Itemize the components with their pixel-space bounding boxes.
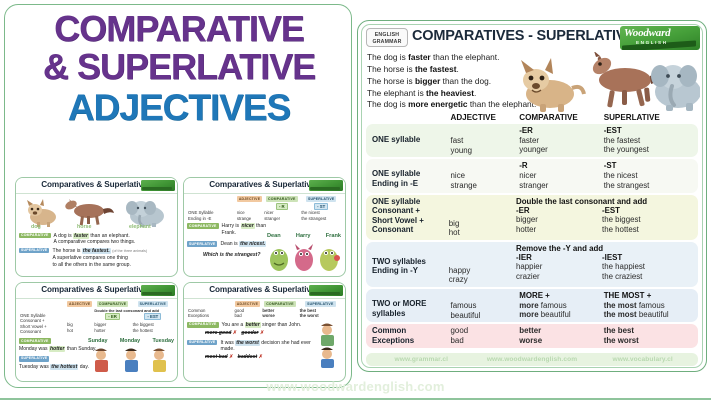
thumb4-header-row: ADJECTIVE COMPARATIVE SUPERLATIVE	[187, 301, 342, 308]
logo-subtitle: ENGLISH	[636, 40, 668, 45]
sup-2: the worst	[299, 313, 342, 319]
row-superlative-2: the strangest	[604, 181, 698, 191]
title-line-3: ADJECTIVES	[5, 89, 352, 126]
comp-highlight: better	[245, 322, 261, 328]
row-superlative-2: the worst	[604, 336, 698, 346]
thumb1-comparative-row: COMPARATIVE A dog is faster than an elep…	[19, 233, 174, 247]
row-superlative-1: the best	[604, 326, 698, 336]
main-chart-panel: ENGLISH GRAMMAR COMPARATIVES - SUPERLATI…	[357, 20, 707, 372]
comparative-tag: COMPARATIVE	[19, 233, 51, 239]
thumb1-animals: dog horse elephant	[19, 197, 174, 231]
intro-pre: The dog is	[367, 52, 408, 62]
table-row: ONE syllable Consonant + Short Vowel + C…	[366, 195, 698, 240]
table-column-headers: ADJECTIVE COMPARATIVE SUPERLATIVE	[366, 113, 698, 124]
intro-post: .	[456, 64, 458, 74]
row-superlative-rule: -ST	[604, 161, 698, 171]
thumb3-header: Comparatives & Superlatives	[16, 283, 177, 299]
intro-post: .	[474, 88, 476, 98]
row-category: Common Exceptions	[366, 326, 451, 345]
sup-wrong-1: most bad	[205, 354, 228, 360]
hdr-superlative-tag: SUPERLATIVE	[138, 301, 168, 307]
day-sunday: Sunday	[88, 338, 107, 345]
day-tuesday: Tuesday	[153, 338, 174, 345]
adj-2: hot	[66, 328, 93, 335]
thumb3-rule-row: ONE Syllable Consonant + Short Vowel + C…	[19, 313, 174, 322]
sup-1: the biggest	[132, 322, 174, 329]
comp-prefix: more	[519, 310, 538, 319]
row-comparative-1: nicer	[519, 171, 603, 181]
rule-comparative: - R	[276, 203, 288, 211]
row-superlative-2: the craziest	[602, 272, 698, 282]
comparative-tag: COMPARATIVE	[187, 223, 219, 229]
day-monday: Monday	[120, 338, 140, 345]
comp-pre: Harry is	[222, 223, 241, 229]
table-row: ONE syllable fastyoung -ERfasteryounger …	[366, 124, 698, 157]
row-comparative-2: younger	[519, 145, 603, 155]
row-comparative-1: faster	[519, 136, 603, 146]
row-superlative-rule: -IEST	[602, 253, 698, 263]
row-adjective-1: good	[451, 326, 520, 336]
table-row: Common Exceptions goodbad betterworse th…	[366, 324, 698, 347]
thumb1-superlative-text: The horse is the fastest. (of the three …	[52, 248, 174, 269]
comp-highlight: faster	[73, 233, 89, 239]
row-superlative-2: the hottest	[602, 225, 698, 235]
sup-pre: The horse is	[52, 248, 81, 254]
comp-pre: Monday was	[19, 346, 49, 352]
hdr-superlative-tag: SUPERLATIVE	[305, 301, 335, 307]
logo-name: Woodward	[624, 27, 670, 39]
row-superlative-2: the youngest	[604, 145, 698, 155]
thumb1-header: Comparatives & Superlatives	[16, 178, 177, 194]
row-wide-rule: Remove the -Y and add	[516, 244, 698, 253]
col-header-superlative: SUPERLATIVE	[604, 113, 698, 122]
row-category: ONE syllable Ending in -E	[366, 161, 451, 190]
thumb4-category: Common Exceptions	[187, 308, 234, 319]
thumb2-table: ADJECTIVE COMPARATIVE SUPERLATIVE - R - …	[187, 196, 342, 221]
adj-1: big	[66, 322, 93, 329]
row-superlative-rule: -EST	[602, 206, 698, 216]
table-row: ONE syllable Ending in -E nicestrange -R…	[366, 159, 698, 192]
row-comparative-2: more beautiful	[519, 310, 603, 320]
thumb2-comparative-row: COMPARATIVE Harry is nicer than Frank.	[187, 223, 275, 237]
hdr-comparative-tag: COMPARATIVE	[266, 196, 298, 202]
intro-pre: The dog is	[367, 99, 408, 109]
comp-highlight: nicer	[241, 223, 255, 229]
comp-2: worse	[261, 313, 298, 319]
sup-pre: Tuesday was	[19, 364, 50, 370]
thumb2-body: ADJECTIVE COMPARATIVE SUPERLATIVE - R - …	[184, 194, 345, 261]
thumb2-question: Which is the strangest?	[187, 252, 275, 259]
poster-canvas: COMPARATIVE & SUPERLATIVE ADJECTIVES Com…	[0, 0, 711, 400]
intro-bold: more energetic	[408, 99, 467, 109]
hdr-comparative-tag: COMPARATIVE	[97, 301, 129, 307]
rule-superlative: - ST	[314, 203, 328, 211]
comp-note: A comparative compares two things.	[54, 239, 136, 245]
row-comparative-rule: -ER	[519, 126, 603, 136]
animal-label-dog: dog	[31, 224, 41, 231]
row-adjective-1: nice	[451, 171, 520, 181]
row-superlative-1: the nicest	[604, 171, 698, 181]
row-adjective-2: strange	[451, 181, 520, 191]
sup-base: beautiful	[639, 310, 669, 319]
sup-note-1: A superlative compares one thing	[52, 255, 127, 261]
thumb2-rule-row: - R - ST	[187, 203, 342, 211]
wrong-mark-icon: ✗	[259, 354, 263, 360]
thumbnail-card-3[interactable]: Comparatives & Superlatives ADJECTIVE CO…	[15, 282, 178, 382]
intro-bold: bigger	[415, 76, 440, 86]
thumb3-table: ADJECTIVE COMPARATIVE SUPERLATIVE Double…	[19, 301, 174, 335]
row-comparative-rule: -R	[519, 161, 603, 171]
sup-base: famous	[639, 301, 665, 310]
wrong-mark-icon: ✗	[260, 330, 264, 336]
sup-pre: It was	[220, 340, 235, 346]
thumb3-days: Sunday Monday Tuesday	[88, 338, 174, 345]
row-wide-rule: Double the last consonant and add	[516, 197, 698, 206]
row-adjective-1: fast	[451, 136, 520, 146]
comp-pre: You are a	[222, 322, 245, 328]
animals-illustration-icon	[510, 52, 700, 112]
footer-link-vocabulary[interactable]: www.vocabulary.cl	[587, 356, 698, 363]
row-comparative-1: more famous	[519, 301, 603, 311]
hdr-comparative-tag: COMPARATIVE	[264, 301, 296, 307]
superlative-tag: SUPERLATIVE	[187, 340, 217, 346]
woodward-logo-icon	[309, 180, 343, 191]
thumb4-superlative-row: SUPERLATIVE It was the worst decision sh…	[187, 340, 315, 354]
hdr-superlative-tag: SUPERLATIVE	[306, 196, 336, 202]
comp-prefix: more	[519, 301, 538, 310]
hdr-adjective-tag: ADJECTIVE	[67, 301, 92, 307]
thumb4-superlative-wrong: most bad ✗ baddest ✗	[187, 354, 315, 361]
row-comparative-2: crazier	[516, 272, 602, 282]
thumb3-body: ADJECTIVE COMPARATIVE SUPERLATIVE Double…	[16, 299, 177, 373]
intro-pre: The horse is	[367, 76, 415, 86]
intro-bold: the heaviest	[426, 88, 474, 98]
row-comparative-1: better	[519, 326, 603, 336]
comp-2: hotter	[93, 328, 131, 335]
row-superlative-rule: THE MOST +	[604, 291, 698, 301]
thumb4-comparative-row: COMPARATIVE You are a better singer than…	[187, 322, 315, 329]
adj-2: strange	[236, 216, 263, 222]
thumb1-comparative-text: A dog is faster than an elephant. A comp…	[54, 233, 174, 247]
table-row: TWO or MORE syllables famousbeautiful MO…	[366, 289, 698, 322]
woodward-logo-icon	[141, 180, 175, 191]
row-superlative-1: the biggest	[602, 215, 698, 225]
rule-superlative: - EST	[144, 313, 161, 321]
thumb1-body: dog horse elephant COMPARATIVE A dog is …	[16, 194, 177, 270]
adj-2: bad	[234, 313, 262, 319]
row-superlative-1: the fastest	[604, 136, 698, 146]
row-superlative-1: the most famous	[604, 301, 698, 311]
thumb3-header-row: ADJECTIVE COMPARATIVE SUPERLATIVE	[19, 301, 174, 308]
comp-2: stranger	[263, 216, 300, 222]
english-grammar-badge: ENGLISH GRAMMAR	[366, 28, 408, 47]
page-title: COMPARATIVES - SUPERLATIVES	[412, 28, 644, 44]
hdr-adjective-tag: ADJECTIVE	[237, 196, 262, 202]
sup-wrong-2: baddest	[238, 354, 258, 360]
thumbnail-grid: Comparatives & Superlatives	[13, 175, 347, 385]
animal-label-elephant: elephant	[129, 224, 151, 231]
row-category: TWO or MORE syllables	[366, 291, 451, 320]
intro-bold: faster	[408, 52, 431, 62]
main-header: ENGLISH GRAMMAR COMPARATIVES - SUPERLATI…	[362, 25, 702, 51]
thumbnail-card-1[interactable]: Comparatives & Superlatives	[15, 177, 178, 277]
row-superlative-1: the happiest	[602, 262, 698, 272]
bottom-watermark: www.woodwardenglish.com	[0, 379, 711, 394]
poster-title: COMPARATIVE & SUPERLATIVE ADJECTIVES	[5, 11, 352, 126]
intro-sentences: The dog is faster than the elephant. The…	[362, 51, 702, 112]
singers-illustration-icon	[312, 322, 342, 368]
sup-note-2: to all the others in the same group.	[52, 262, 130, 268]
comp-wrong-2: gooder	[241, 330, 258, 336]
animal-label-horse: horse	[77, 224, 91, 231]
thumbnail-card-4[interactable]: Comparatives & Superlatives ADJECTIVE CO…	[183, 282, 346, 382]
thumb1-superlative-row: SUPERLATIVE The horse is the fastest. (o…	[19, 248, 174, 269]
sup-pre: Dean is	[220, 241, 239, 247]
row-comparative-1: happier	[516, 262, 602, 272]
sup-2: the hottest	[132, 328, 174, 335]
title-line-2: & SUPERLATIVE	[5, 49, 352, 85]
woodward-english-logo: Woodward ENGLISH	[620, 26, 700, 50]
comp-base: famous	[541, 301, 567, 310]
sup-highlight: the nicest.	[239, 241, 266, 247]
comparatives-table: ADJECTIVE COMPARATIVE SUPERLATIVE ONE sy…	[362, 113, 702, 351]
comp-highlight: hotter	[49, 346, 65, 352]
left-title-panel: COMPARATIVE & SUPERLATIVE ADJECTIVES Com…	[4, 4, 352, 388]
thumb3-category: ONE Syllable Consonant + Short Vowel + C…	[19, 313, 66, 335]
wrong-mark-icon: ✗	[229, 354, 233, 360]
comparative-tag: COMPARATIVE	[187, 322, 219, 328]
intro-bold: the fastest	[415, 64, 457, 74]
row-comparative-2: stranger	[519, 181, 603, 191]
main-animals-illustration	[510, 52, 700, 112]
comp-pre: A dog is	[54, 233, 74, 239]
row-category: ONE syllable Consonant + Short Vowel + C…	[366, 197, 449, 238]
thumb2-header: Comparatives & Superlatives	[184, 178, 345, 194]
footer-link-grammar[interactable]: www.grammar.cl	[366, 356, 477, 363]
comp-wrong-1: more good	[205, 330, 231, 336]
table-row: ONE Syllable Ending in -E nice nicer the…	[187, 210, 342, 216]
thumbnail-card-2[interactable]: Comparatives & Superlatives ADJECTIVE CO…	[183, 177, 346, 277]
row-adjective-1: big	[449, 219, 516, 229]
superlative-tag: SUPERLATIVE	[19, 356, 49, 362]
row-comparative-rule: -ER	[516, 206, 602, 216]
woodward-logo-icon	[309, 285, 343, 296]
intro-pre: The elephant is	[367, 88, 426, 98]
row-adjective-2: beautiful	[451, 311, 520, 321]
comp-post: singer than John.	[261, 322, 302, 328]
row-adjective-2: hot	[449, 228, 516, 238]
thumb4-comparative-wrong: more good ✗ gooder ✗	[187, 330, 315, 337]
wrong-mark-icon: ✗	[233, 330, 237, 336]
hdr-adjective-tag: ADJECTIVE	[235, 301, 260, 307]
row-comparative-2: worse	[519, 336, 603, 346]
sup-2: the strangest	[300, 216, 342, 222]
sup-highlight: the fastest.	[82, 248, 111, 254]
monsters-illustration-icon	[267, 240, 341, 272]
row-adjective-2: crazy	[449, 275, 516, 285]
row-comparative-1: bigger	[516, 215, 602, 225]
comp-base: beautiful	[541, 310, 571, 319]
main-panel-inner: ENGLISH GRAMMAR COMPARATIVES - SUPERLATI…	[361, 24, 703, 368]
thumb4-comparative-text: You are a better singer than John.	[222, 322, 315, 329]
thumb2-category: ONE Syllable Ending in -E	[187, 210, 236, 221]
title-line-1: COMPARATIVE	[5, 11, 352, 47]
row-comparative-rule: -IER	[516, 253, 602, 263]
sup-highlight: the worst	[235, 340, 260, 346]
row-comparative-rule: MORE +	[519, 291, 603, 301]
footer-links: www.grammar.cl www.woodwardenglish.com w…	[366, 353, 698, 366]
people-illustration-icon	[88, 346, 174, 374]
thumb4-body: ADJECTIVE COMPARATIVE SUPERLATIVE Common…	[184, 299, 345, 363]
comparative-tag: COMPARATIVE	[19, 338, 51, 344]
superlative-tag: SUPERLATIVE	[187, 241, 217, 247]
row-comparative-2: hotter	[516, 225, 602, 235]
badge-line-2: GRAMMAR	[367, 39, 407, 46]
sup-aside: (of the three animals)	[112, 249, 147, 253]
row-superlative-rule: -EST	[604, 126, 698, 136]
footer-link-woodwardenglish[interactable]: www.woodwardenglish.com	[477, 356, 588, 363]
thumb2-header-row: ADJECTIVE COMPARATIVE SUPERLATIVE	[187, 196, 342, 203]
col-header-blank	[366, 113, 450, 122]
animals-illustration-icon	[19, 197, 174, 227]
thumb4-table: ADJECTIVE COMPARATIVE SUPERLATIVE Common…	[187, 301, 342, 319]
table-row: TWO syllables Ending in -Y happycrazy Re…	[366, 242, 698, 287]
row-category: ONE syllable	[366, 126, 451, 155]
row-adjective-1: happy	[449, 266, 516, 276]
row-category: TWO syllables Ending in -Y	[366, 244, 449, 285]
row-adjective-1: famous	[451, 301, 520, 311]
badge-line-1: ENGLISH	[367, 32, 407, 39]
comp-post: than an elephant.	[89, 233, 130, 239]
col-header-adjective: ADJECTIVE	[450, 113, 519, 122]
sup-prefix: the most	[604, 310, 637, 319]
row-superlative-2: the most beautiful	[604, 310, 698, 320]
thumb4-header: Comparatives & Superlatives	[184, 283, 345, 299]
thumb4-superlative-text: It was the worst decision she had ever m…	[220, 340, 315, 354]
comp-1: bigger	[93, 322, 131, 329]
row-adjective-2: young	[451, 146, 520, 156]
intro-pre: The horse is	[367, 64, 415, 74]
intro-post: than the dog.	[440, 76, 491, 86]
superlative-tag: SUPERLATIVE	[19, 248, 49, 254]
sup-prefix: the most	[604, 301, 637, 310]
thumb2-superlative-row: SUPERLATIVE Dean is the nicest.	[187, 241, 275, 248]
sup-highlight: the hottest	[50, 364, 78, 370]
intro-post: than the elephant.	[431, 52, 500, 62]
col-header-comparative: COMPARATIVE	[519, 113, 603, 122]
woodward-logo-icon	[141, 285, 175, 296]
rule-comparative: - ER	[105, 313, 120, 321]
row-adjective-2: bad	[451, 336, 520, 346]
